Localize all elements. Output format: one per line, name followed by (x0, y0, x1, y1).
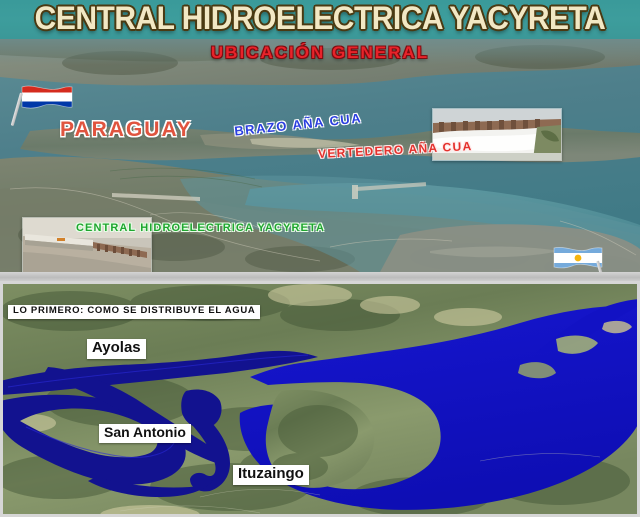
panel-divider (0, 272, 640, 281)
place-label-ayolas: Ayolas (87, 339, 146, 359)
slide-root: CENTRAL HIDROELECTRICA YACYRETA (0, 0, 640, 517)
caption-lo-primero: LO PRIMERO: COMO SE DISTRIBUYE EL AGUA (8, 305, 260, 319)
top-map-panel: UBICACIÓN GENERAL (0, 39, 640, 272)
subtitle: UBICACIÓN GENERAL (0, 43, 640, 63)
page-title: CENTRAL HIDROELECTRICA YACYRETA (0, 1, 640, 38)
paraguay-flag-icon (18, 83, 74, 117)
title-bar: CENTRAL HIDROELECTRICA YACYRETA (0, 0, 640, 39)
place-label-san-antonio: San Antonio (99, 424, 191, 443)
label-central-hidroelectrica-yacyreta: CENTRAL HIDROELECTRICA YACYRETA (76, 222, 325, 234)
place-label-ituzaingo: Ituzaingo (233, 465, 309, 485)
argentina-flag (552, 245, 608, 272)
paraguay-flag (18, 83, 74, 127)
label-paraguay: PARAGUAY (60, 118, 193, 142)
argentina-flag-icon (552, 245, 604, 272)
